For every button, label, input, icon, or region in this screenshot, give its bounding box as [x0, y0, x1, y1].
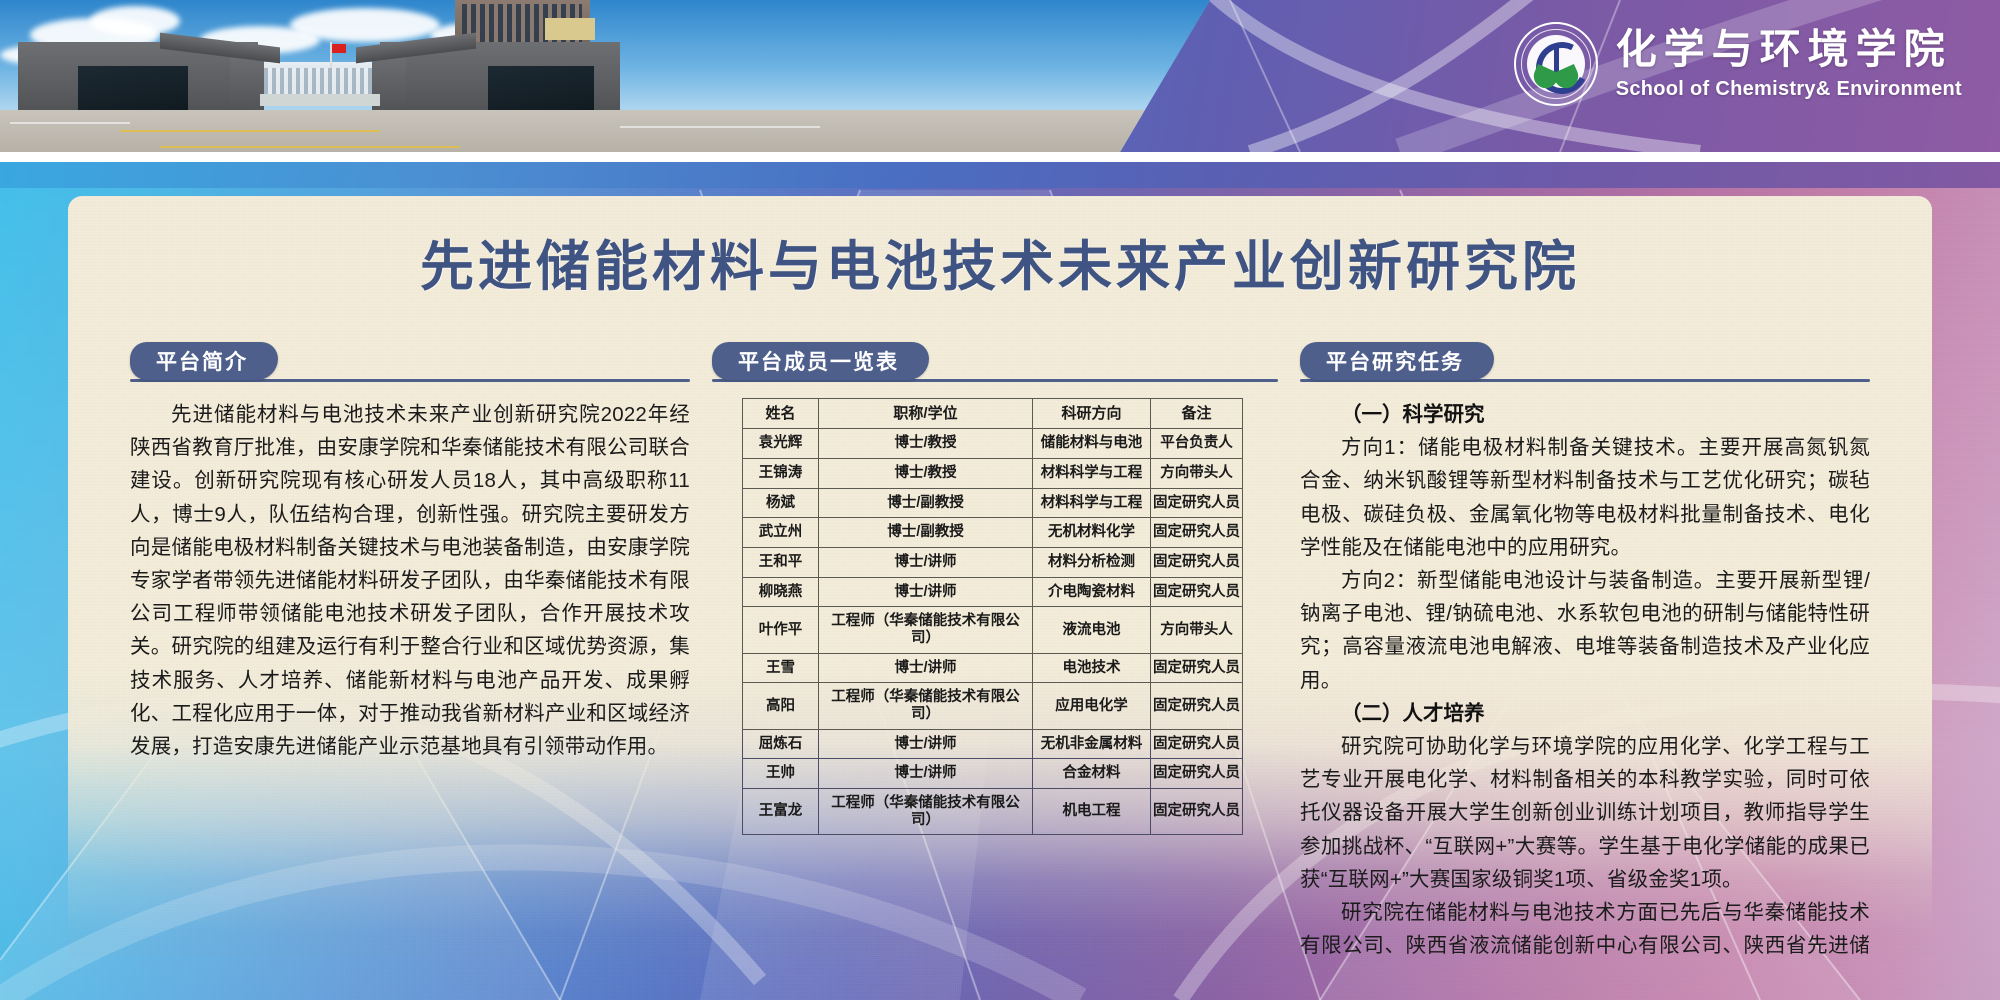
members-table: 姓名职称/学位科研方向备注 袁光辉博士/教授储能材料与电池平台负责人王锦涛博士/…	[742, 398, 1243, 835]
table-row: 王雪博士/讲师电池技术固定研究人员	[743, 653, 1243, 683]
table-cell: 博士/讲师	[819, 547, 1033, 577]
campus-gate-photo	[0, 0, 1210, 152]
task-paragraph: 研究院可协助化学与环境学院的应用化学、化学工程与工艺专业开展电化学、材料制备相关…	[1300, 730, 1870, 896]
banner-blue-strip	[0, 162, 2000, 188]
table-cell: 电池技术	[1033, 653, 1151, 683]
table-cell: 王和平	[743, 547, 819, 577]
table-cell: 材料分析检测	[1033, 547, 1151, 577]
table-cell: 固定研究人员	[1151, 788, 1243, 834]
tower-sign	[545, 18, 595, 40]
table-row: 屈炼石博士/讲师无机非金属材料固定研究人员	[743, 729, 1243, 759]
section-title-tasks: 平台研究任务	[1300, 342, 1494, 380]
ground-line	[10, 122, 130, 124]
table-cell: 材料科学与工程	[1033, 488, 1151, 518]
section-title-members: 平台成员一览表	[712, 342, 929, 380]
table-cell: 固定研究人员	[1151, 547, 1243, 577]
table-cell: 固定研究人员	[1151, 653, 1243, 683]
logo-title-cn: 化学与环境学院	[1616, 29, 1962, 70]
table-cell: 博士/副教授	[819, 518, 1033, 548]
table-cell: 袁光辉	[743, 429, 819, 459]
table-cell: 博士/讲师	[819, 729, 1033, 759]
table-row: 杨斌博士/副教授材料科学与工程固定研究人员	[743, 488, 1243, 518]
table-cell: 应用电化学	[1033, 683, 1151, 729]
table-col-header: 职称/学位	[819, 399, 1033, 429]
table-cell: 固定研究人员	[1151, 759, 1243, 789]
table-cell: 固定研究人员	[1151, 488, 1243, 518]
table-row: 柳晓燕博士/讲师介电陶瓷材料固定研究人员	[743, 577, 1243, 607]
table-cell: 博士/讲师	[819, 759, 1033, 789]
table-row: 王富龙工程师（华秦储能技术有限公司）机电工程固定研究人员	[743, 788, 1243, 834]
section-header-tasks: 平台研究任务	[1300, 342, 1870, 386]
table-col-header: 备注	[1151, 399, 1243, 429]
table-cell: 固定研究人员	[1151, 577, 1243, 607]
table-cell: 柳晓燕	[743, 577, 819, 607]
table-cell: 机电工程	[1033, 788, 1151, 834]
school-logo: 化学与环境学院 School of Chemistry& Environment	[1514, 22, 1962, 106]
table-cell: 高阳	[743, 683, 819, 729]
table-cell: 博士/讲师	[819, 577, 1033, 607]
table-row: 袁光辉博士/教授储能材料与电池平台负责人	[743, 429, 1243, 459]
table-cell: 王雪	[743, 653, 819, 683]
columns-wrapper: 平台简介 先进储能材料与电池技术未来产业创新研究院2022年经陕西省教育厅批准，…	[68, 196, 1932, 956]
table-cell: 工程师（华秦储能技术有限公司）	[819, 788, 1033, 834]
table-cell: 合金材料	[1033, 759, 1151, 789]
table-row: 王帅博士/讲师合金材料固定研究人员	[743, 759, 1243, 789]
table-cell: 无机非金属材料	[1033, 729, 1151, 759]
cloud	[90, 6, 180, 36]
column-intro: 平台简介 先进储能材料与电池技术未来产业创新研究院2022年经陕西省教育厅批准，…	[130, 342, 690, 763]
table-cell: 固定研究人员	[1151, 518, 1243, 548]
flag	[332, 44, 346, 53]
table-cell: 方向带头人	[1151, 458, 1243, 488]
section-header-intro: 平台简介	[130, 342, 690, 386]
table-row: 高阳工程师（华秦储能技术有限公司）应用电化学固定研究人员	[743, 683, 1243, 729]
table-cell: 工程师（华秦储能技术有限公司）	[819, 683, 1033, 729]
table-cell: 工程师（华秦储能技术有限公司）	[819, 607, 1033, 653]
table-cell: 博士/教授	[819, 458, 1033, 488]
table-header-row: 姓名职称/学位科研方向备注	[743, 399, 1243, 429]
table-cell: 博士/副教授	[819, 488, 1033, 518]
cloud	[290, 8, 440, 42]
table-row: 武立州博士/副教授无机材料化学固定研究人员	[743, 518, 1243, 548]
column-tasks: 平台研究任务 （一）科学研究方向1：储能电极材料制备关键技术。主要开展高氮钒氮合…	[1300, 342, 1870, 956]
ground-line	[620, 126, 820, 128]
table-row: 王和平博士/讲师材料分析检测固定研究人员	[743, 547, 1243, 577]
task-paragraph: 研究院在储能材料与电池技术方面已先后与华秦储能技术有限公司、陕西省液流储能创新中…	[1300, 896, 1870, 956]
table-cell: 固定研究人员	[1151, 729, 1243, 759]
table-col-header: 姓名	[743, 399, 819, 429]
table-cell: 王富龙	[743, 788, 819, 834]
school-seal-icon	[1514, 22, 1598, 106]
top-banner: 化学与环境学院 School of Chemistry& Environment	[0, 0, 2000, 152]
section-header-members: 平台成员一览表	[712, 342, 1278, 386]
parking-line	[160, 146, 460, 148]
table-cell: 固定研究人员	[1151, 683, 1243, 729]
table-row: 王锦涛博士/教授材料科学与工程方向带头人	[743, 458, 1243, 488]
table-cell: 博士/讲师	[819, 653, 1033, 683]
table-cell: 屈炼石	[743, 729, 819, 759]
table-cell: 储能材料与电池	[1033, 429, 1151, 459]
table-cell: 方向带头人	[1151, 607, 1243, 653]
task-subheading: （一）科学研究	[1300, 398, 1870, 431]
table-cell: 无机材料化学	[1033, 518, 1151, 548]
task-subheading: （二）人才培养	[1300, 697, 1870, 730]
table-cell: 杨斌	[743, 488, 819, 518]
table-cell: 王锦涛	[743, 458, 819, 488]
table-cell: 叶作平	[743, 607, 819, 653]
column-members: 平台成员一览表 姓名职称/学位科研方向备注 袁光辉博士/教授储能材料与电池平台负…	[712, 342, 1278, 835]
task-paragraph: 方向2：新型储能电池设计与装备制造。主要开展新型锂/钠离子电池、锂/钠硫电池、水…	[1300, 564, 1870, 697]
table-cell: 液流电池	[1033, 607, 1151, 653]
intro-paragraph: 先进储能材料与电池技术未来产业创新研究院2022年经陕西省教育厅批准，由安康学院…	[130, 398, 690, 763]
table-cell: 王帅	[743, 759, 819, 789]
table-cell: 介电陶瓷材料	[1033, 577, 1151, 607]
table-row: 叶作平工程师（华秦储能技术有限公司）液流电池方向带头人	[743, 607, 1243, 653]
section-title-intro: 平台简介	[130, 342, 278, 380]
table-cell: 材料科学与工程	[1033, 458, 1151, 488]
parking-line	[120, 130, 380, 132]
plaza-sculpture	[260, 94, 380, 106]
tasks-body: （一）科学研究方向1：储能电极材料制备关键技术。主要开展高氮钒氮合金、纳米钒酸锂…	[1300, 398, 1870, 956]
table-col-header: 科研方向	[1033, 399, 1151, 429]
table-cell: 博士/教授	[819, 429, 1033, 459]
table-cell: 武立州	[743, 518, 819, 548]
task-paragraph: 方向1：储能电极材料制备关键技术。主要开展高氮钒氮合金、纳米钒酸锂等新型材料制备…	[1300, 431, 1870, 564]
logo-title-en: School of Chemistry& Environment	[1616, 79, 1962, 99]
content-panel: 先进储能材料与电池技术未来产业创新研究院 平台简介 先进储能材料与电池技术未来产…	[68, 196, 1932, 956]
banner-white-divider	[0, 152, 2000, 162]
poster-root: 化学与环境学院 School of Chemistry& Environment…	[0, 0, 2000, 1000]
table-cell: 平台负责人	[1151, 429, 1243, 459]
